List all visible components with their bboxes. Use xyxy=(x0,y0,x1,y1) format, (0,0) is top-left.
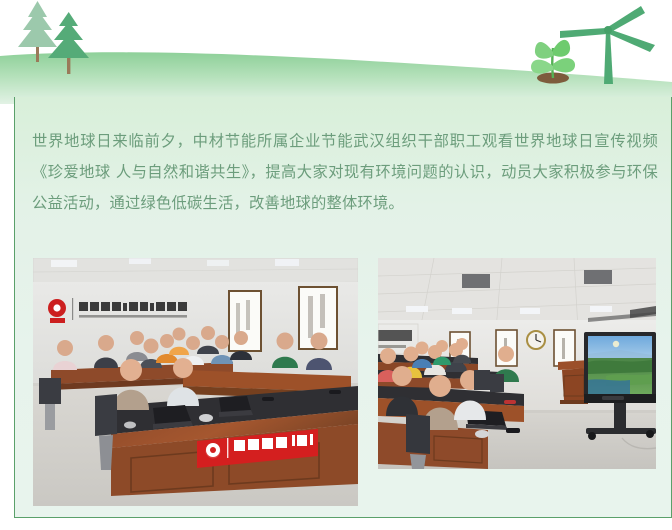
pine-tree-back-tier3 xyxy=(18,22,57,47)
sapling-group xyxy=(531,40,575,84)
header-banner xyxy=(0,0,672,104)
display-caster xyxy=(646,430,654,438)
wind-turbine-hub xyxy=(604,26,612,34)
wall-sign-text-en xyxy=(79,315,187,318)
footer-strip xyxy=(0,518,672,530)
sapling-leaf-upper-left xyxy=(535,42,553,59)
pine-tree-back-group xyxy=(18,1,57,62)
photo-meeting-wide[interactable] xyxy=(33,258,358,506)
photo-row xyxy=(33,258,661,508)
sinoma-logo-base xyxy=(50,318,65,323)
red-item xyxy=(504,400,516,404)
ceiling xyxy=(33,258,358,284)
sapling-leaf-lower-right xyxy=(553,58,575,72)
display-screen-content xyxy=(588,336,652,394)
photo-meeting-screen[interactable] xyxy=(378,258,656,469)
article-paragraph: 世界地球日来临前夕，中材节能所属企业节能武汉组织干部职工观看世界地球日宣传视频《… xyxy=(32,126,658,219)
display-soundbar xyxy=(602,396,624,400)
page-root: 世界地球日来临前夕，中材节能所属企业节能武汉组织干部职工观看世界地球日宣传视频《… xyxy=(0,0,672,530)
display-stand-column xyxy=(614,403,626,429)
article-body: 世界地球日来临前夕，中材节能所属企业节能武汉组织干部职工观看世界地球日宣传视频《… xyxy=(32,126,658,219)
sapling-leaf-upper-right xyxy=(553,40,570,57)
wind-turbine-blade-3 xyxy=(560,28,607,38)
wind-turbine-group xyxy=(560,6,655,84)
wind-turbine-tower xyxy=(604,30,613,84)
sapling-leaf-lower-left xyxy=(531,60,553,74)
wall-sign-text-cn xyxy=(79,302,187,311)
display-stand-base xyxy=(586,428,656,434)
wall-sign-divider xyxy=(72,298,73,320)
mouse xyxy=(475,430,489,438)
wind-turbine-blade-1 xyxy=(608,6,645,32)
wind-turbine-blade-2 xyxy=(607,29,655,52)
wall-clock xyxy=(527,331,545,349)
remote xyxy=(506,428,520,433)
content-panel: 世界地球日来临前夕，中材节能所属企业节能武汉组织干部职工观看世界地球日宣传视频《… xyxy=(14,97,672,518)
display-caster xyxy=(588,432,596,440)
